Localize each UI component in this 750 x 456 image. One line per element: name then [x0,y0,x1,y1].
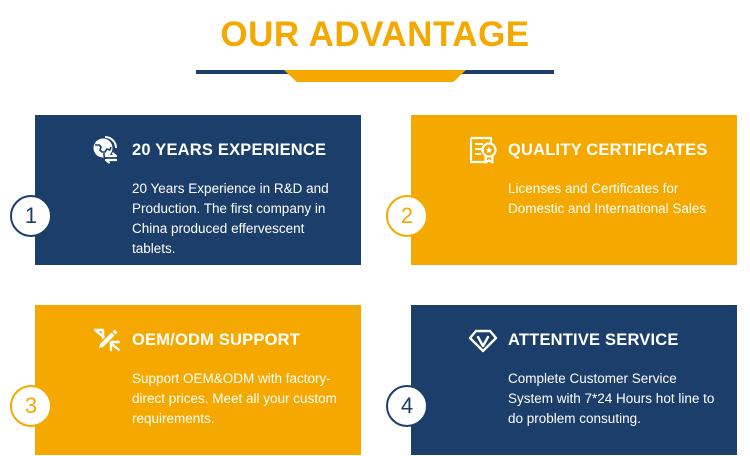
advantage-card-grid: 20 YEARS EXPERIENCE 20 Years Experience … [0,92,750,456]
card-title-4: ATTENTIVE SERVICE [508,331,679,350]
card-header-1: 20 YEARS EXPERIENCE [91,133,345,167]
advantage-card-4[interactable]: ATTENTIVE SERVICE Complete Customer Serv… [411,305,737,455]
advantage-card-1[interactable]: 20 YEARS EXPERIENCE 20 Years Experience … [35,115,361,265]
card-title-1: 20 YEARS EXPERIENCE [132,141,326,160]
diamond-check-icon [467,324,499,356]
card-body-3: Support OEM&ODM with factory-direct pric… [132,369,345,429]
card-badge-4: 4 [386,385,428,427]
card-header-2: QUALITY CERTIFICATES [467,133,721,167]
globe-exchange-icon [91,134,123,166]
header: OUR ADVANTAGE [0,0,750,92]
card-title-3: OEM/ODM SUPPORT [132,331,300,350]
advantage-card-2[interactable]: QUALITY CERTIFICATES Licenses and Certif… [411,115,737,265]
page-title: OUR ADVANTAGE [0,14,750,56]
advantage-card-3[interactable]: OEM/ODM SUPPORT Support OEM&ODM with fac… [35,305,361,455]
card-header-3: OEM/ODM SUPPORT [91,323,345,357]
pencil-ruler-icon [91,324,123,356]
card-body-1: 20 Years Experience in R&D and Productio… [132,179,345,259]
certificate-seal-icon [467,134,499,166]
card-badge-1: 1 [10,195,52,237]
title-divider-tab [284,70,466,82]
card-body-2: Licenses and Certificates for Domestic a… [508,179,721,219]
card-body-4: Complete Customer Service System with 7*… [508,369,721,429]
card-header-4: ATTENTIVE SERVICE [467,323,721,357]
card-badge-2: 2 [386,195,428,237]
card-title-2: QUALITY CERTIFICATES [508,141,708,160]
card-badge-3: 3 [10,385,52,427]
